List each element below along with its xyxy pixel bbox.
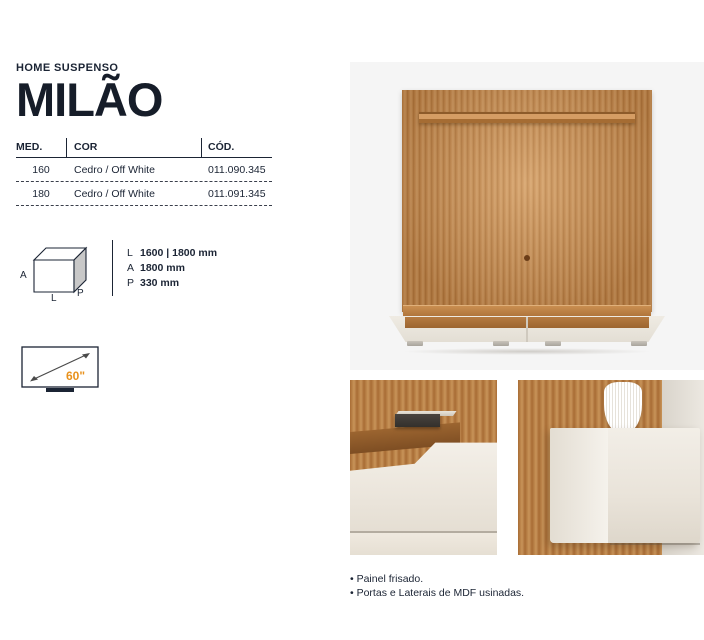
cabinet-handle <box>631 341 647 346</box>
dimension-list: L1600 | 1800 mm A1800 mm P330 mm <box>112 240 217 296</box>
table-row: 160 Cedro / Off White 011.090.345 <box>16 158 272 182</box>
column-header-cor: COR <box>66 141 201 157</box>
cell-med: 160 <box>16 158 66 181</box>
panel-shelf <box>419 112 635 123</box>
product-title: MILÃO <box>16 77 316 123</box>
tv-size-label: 60" <box>66 369 85 383</box>
cabinet-handle <box>545 341 561 346</box>
cell-cor: Cedro / Off White <box>66 158 201 181</box>
fluted-wall-panel <box>402 90 652 312</box>
cube-label-height: A <box>20 270 27 281</box>
drawer-divider <box>526 317 528 342</box>
dimension-row-height: A1800 mm <box>127 261 217 276</box>
cell-cor: Cedro / Off White <box>66 182 201 205</box>
tv-size-diagram: 60" <box>16 344 108 396</box>
drop-shadow <box>402 348 652 355</box>
cell-med: 180 <box>16 182 66 205</box>
cube-icon: A L P <box>16 240 108 302</box>
feature-item: • Portas e Laterais de MDF usinadas. <box>350 586 524 600</box>
cube-diagram: A L P <box>16 240 108 302</box>
cabinet-handle <box>407 341 423 346</box>
table-row: 180 Cedro / Off White 011.091.345 <box>16 182 272 206</box>
feature-list: • Painel frisado. • Portas e Laterais de… <box>350 572 524 600</box>
dimension-key: A <box>127 261 140 276</box>
dimension-key: L <box>127 246 140 261</box>
table-body: 160 Cedro / Off White 011.090.345 180 Ce… <box>16 158 272 206</box>
column-header-med: MED. <box>16 141 66 157</box>
dark-accent-block <box>395 414 440 427</box>
product-hero-image <box>350 62 704 370</box>
drawer-gap-line <box>350 531 497 533</box>
dimension-value: 1600 | 1800 mm <box>140 247 217 259</box>
dimension-row-width: L1600 | 1800 mm <box>127 246 217 261</box>
detail-photo-right <box>518 380 704 555</box>
cable-hole <box>524 255 530 261</box>
drawer-gap-line <box>610 543 700 545</box>
product-info-column: HOME SUSPENSO MILÃO MED. COR CÓD. 160 Ce… <box>16 62 316 396</box>
cabinet-handle <box>493 341 509 346</box>
dimension-value: 1800 mm <box>140 262 185 274</box>
feature-item: • Painel frisado. <box>350 572 524 586</box>
product-catalog-page: HOME SUSPENSO MILÃO MED. COR CÓD. 160 Ce… <box>0 0 704 640</box>
lower-drawer-front <box>350 533 497 555</box>
dimension-key: P <box>127 276 140 291</box>
column-header-cod: CÓD. <box>201 141 272 157</box>
cell-cod: 011.090.345 <box>201 158 272 181</box>
television-icon: 60" <box>16 344 108 396</box>
specification-table: MED. COR CÓD. 160 Cedro / Off White 011.… <box>16 141 272 206</box>
cube-label-width: L <box>51 293 57 302</box>
detail-photo-left <box>350 380 497 555</box>
dimension-value: 330 mm <box>140 277 179 289</box>
cell-cod: 011.091.345 <box>201 182 272 205</box>
decorative-vase <box>604 382 642 432</box>
offwhite-cabinet-side <box>550 428 608 543</box>
base-cabinet <box>389 305 665 351</box>
cube-label-depth: P <box>77 288 84 299</box>
dimension-row-depth: P330 mm <box>127 276 217 291</box>
dimensions-block: A L P L1600 | 1800 mm A1800 mm P330 mm <box>16 240 316 302</box>
table-header-row: MED. COR CÓD. <box>16 141 272 158</box>
